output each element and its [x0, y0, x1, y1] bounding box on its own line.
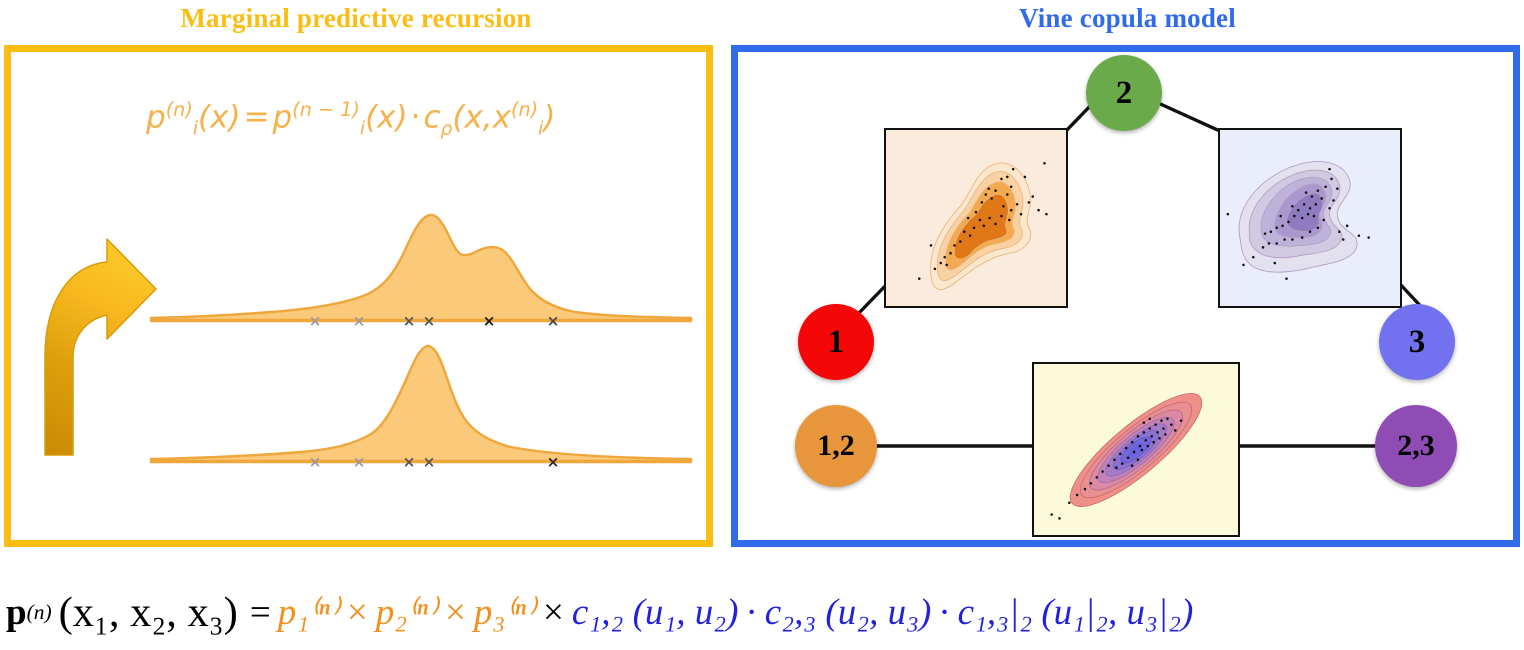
bf-copula-1: c₁,₂ (u₁, u₂) — [572, 591, 739, 634]
bf-dot-2: · — [931, 591, 957, 634]
vine-node-1-2-label: 1,2 — [817, 429, 855, 463]
bf-marginal-2: p₂⁽ⁿ⁾ — [376, 590, 437, 634]
formula-rhs-arg: (x) — [365, 99, 408, 135]
predictive-density-step-n-minus-1: × × × × × × — [151, 202, 691, 327]
formula-lhs-p: p — [146, 99, 166, 135]
bf-lhs-p: p — [6, 591, 27, 634]
bf-dot-1: · — [738, 591, 764, 634]
density-curve-2 — [151, 346, 691, 462]
formula-dot: · — [408, 99, 424, 135]
vine-node-3-label: 3 — [1409, 324, 1426, 361]
bf-copula-3: c₁,₃|₂ (u₁|₂, u₃|₂) — [958, 591, 1194, 634]
vine-copula-model-panel: 2 1 3 1,2 2,3 — [731, 45, 1520, 547]
svg-text:×: × — [423, 453, 436, 471]
density-curve-1 — [151, 215, 691, 321]
bf-lhs-sup: (n) — [27, 600, 52, 625]
bf-equals: = — [250, 591, 271, 634]
vine-node-1[interactable]: 1 — [798, 304, 874, 380]
recursion-arrow-icon — [41, 217, 161, 462]
vine-node-2-3-label: 2,3 — [1397, 429, 1435, 463]
formula-copula-x: x — [493, 99, 511, 135]
svg-text:×: × — [403, 453, 416, 471]
svg-text:×: × — [403, 312, 416, 330]
bf-times-3: × — [535, 591, 572, 634]
vine-graph: 2 1 3 1,2 2,3 — [738, 52, 1513, 540]
bf-marginal-3: p₃⁽ⁿ⁾ — [474, 590, 535, 634]
formula-rhs-p: p — [273, 99, 293, 135]
svg-text:×: × — [309, 312, 322, 330]
vine-node-2-3[interactable]: 2,3 — [1375, 405, 1457, 487]
copula-contour-1-3-2 — [1032, 362, 1240, 537]
formula-copula-x-sup: (n) — [511, 98, 538, 121]
vine-node-1-label: 1 — [828, 324, 845, 361]
formula-lhs-arg: (x) — [198, 99, 241, 135]
vine-node-2-label: 2 — [1116, 75, 1133, 112]
svg-text:×: × — [353, 312, 366, 330]
bf-lhs-args: (x₁, x₂, x₃) — [59, 588, 238, 637]
formula-copula-sub: ρ — [441, 119, 453, 140]
left-panel-title: Marginal predictive recursion — [0, 3, 712, 34]
bf-marginal-1: p₁⁽ⁿ⁾ — [278, 590, 339, 634]
formula-equals: = — [241, 99, 273, 135]
vine-node-1-2[interactable]: 1,2 — [795, 405, 877, 487]
svg-text:×: × — [353, 453, 366, 471]
bf-copula-2: c₂,₃ (u₂, u₃) — [765, 591, 932, 634]
marginal-predictive-recursion-panel: p(n)i(x)=p(n − 1)i(x)·cρ(x,x(n)i) — [4, 45, 713, 547]
svg-text:×: × — [423, 312, 436, 330]
recursion-formula: p(n)i(x)=p(n − 1)i(x)·cρ(x,x(n)i) — [146, 100, 706, 170]
formula-copula-c: c — [423, 99, 440, 135]
svg-text:×: × — [309, 453, 322, 471]
copula-contour-1-2 — [884, 128, 1068, 308]
formula-rhs-sup: (n − 1) — [292, 98, 360, 121]
svg-text:×: × — [547, 312, 560, 330]
right-panel-title: Vine copula model — [731, 3, 1524, 34]
svg-text:×: × — [483, 312, 496, 330]
bf-times-2: × — [437, 591, 474, 634]
copula-contour-2-3 — [1218, 128, 1402, 308]
formula-copula-arg-close: ) — [543, 99, 555, 135]
edge-node2-copula23 — [1156, 102, 1222, 132]
vine-node-2[interactable]: 2 — [1086, 55, 1162, 131]
formula-copula-arg-open: (x, — [452, 99, 492, 135]
bf-times-1: × — [339, 591, 376, 634]
vine-node-3[interactable]: 3 — [1379, 304, 1455, 380]
figure-root: Marginal predictive recursion Vine copul… — [0, 0, 1524, 650]
svg-text:×: × — [547, 453, 560, 471]
joint-density-formula: p(n)(x₁, x₂, x₃)=p₁⁽ⁿ⁾×p₂⁽ⁿ⁾×p₃⁽ⁿ⁾×c₁,₂ … — [0, 574, 1524, 650]
formula-lhs-sup: (n) — [166, 98, 193, 121]
predictive-density-step-n: × × × × × — [151, 342, 691, 467]
